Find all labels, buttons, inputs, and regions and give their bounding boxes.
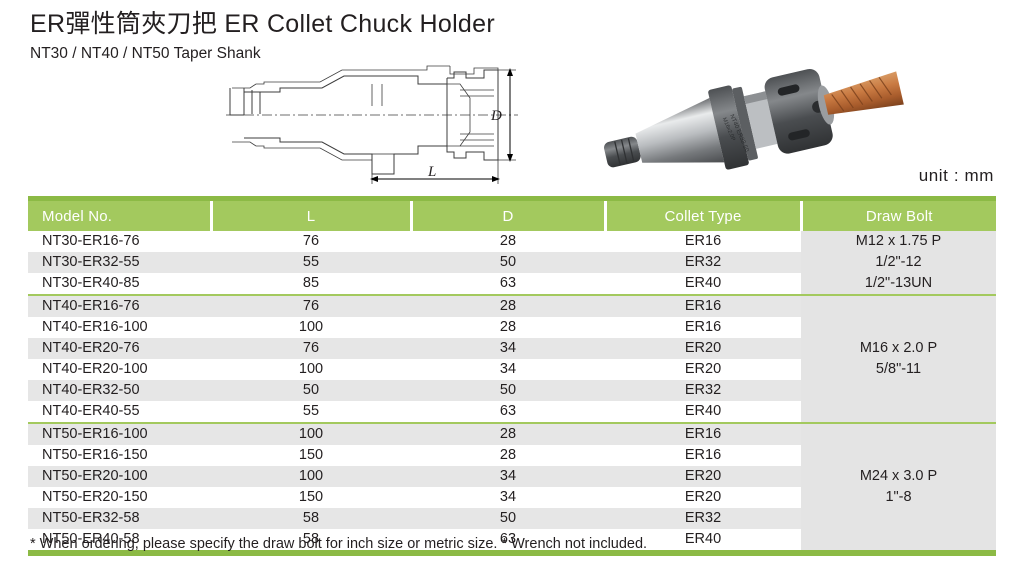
spec-table: Model No. L D Collet Type Draw Bolt NT30…: [28, 201, 996, 550]
cell-d: 28: [411, 423, 605, 445]
cell-collet-type: ER32: [605, 508, 801, 529]
cell-l: 150: [211, 445, 411, 466]
draw-bolt-line: M12 x 1.75 P: [801, 231, 996, 252]
cell-l: 150: [211, 487, 411, 508]
cell-d: 63: [411, 273, 605, 295]
collet-chuck-photo: NT40 ER32-50 M16x2.0P: [588, 56, 908, 191]
cell-d: 63: [411, 401, 605, 423]
cell-d: 28: [411, 317, 605, 338]
cell-collet-type: ER32: [605, 252, 801, 273]
cell-collet-type: ER16: [605, 295, 801, 317]
table-header-row: Model No. L D Collet Type Draw Bolt: [28, 201, 996, 231]
cell-collet-type: ER16: [605, 445, 801, 466]
cell-model: NT40-ER32-50: [28, 380, 211, 401]
cell-l: 100: [211, 359, 411, 380]
cell-l: 76: [211, 231, 411, 252]
column-header-d: D: [411, 201, 605, 231]
cell-model: NT30-ER16-76: [28, 231, 211, 252]
cell-l: 55: [211, 252, 411, 273]
cell-model: NT50-ER16-100: [28, 423, 211, 445]
dimension-label-l: L: [427, 164, 436, 180]
cell-model: NT50-ER16-150: [28, 445, 211, 466]
collet-chuck-line-drawing: D L: [222, 62, 522, 187]
cell-d: 34: [411, 466, 605, 487]
title-block: ER彈性筒夾刀把 ER Collet Chuck Holder NT30 / N…: [30, 10, 495, 63]
cell-d: 34: [411, 487, 605, 508]
cell-collet-type: ER40: [605, 273, 801, 295]
cell-collet-type: ER40: [605, 401, 801, 423]
cell-model: NT40-ER20-100: [28, 359, 211, 380]
cell-collet-type: ER32: [605, 380, 801, 401]
cell-l: 58: [211, 508, 411, 529]
cell-model: NT30-ER40-85: [28, 273, 211, 295]
draw-bolt-line: 5/8"-11: [801, 359, 996, 380]
cell-l: 55: [211, 401, 411, 423]
cell-draw-bolt: M12 x 1.75 P1/2"-121/2"-13UN: [801, 231, 996, 295]
cell-model: NT30-ER32-55: [28, 252, 211, 273]
column-header-model: Model No.: [28, 201, 211, 231]
cell-l: 100: [211, 423, 411, 445]
draw-bolt-line: M16 x 2.0 P: [801, 338, 996, 359]
cell-model: NT40-ER40-55: [28, 401, 211, 423]
cell-l: 100: [211, 317, 411, 338]
draw-bolt-line: 1/2"-13UN: [801, 273, 996, 294]
table-body: NT30-ER16-767628ER16M12 x 1.75 P1/2"-121…: [28, 231, 996, 550]
cell-d: 28: [411, 231, 605, 252]
column-header-l: L: [211, 201, 411, 231]
photo-svg: NT40 ER32-50 M16x2.0P: [588, 56, 908, 191]
cell-model: NT50-ER20-150: [28, 487, 211, 508]
line-drawing-svg: D L: [222, 62, 522, 187]
cell-collet-type: ER16: [605, 423, 801, 445]
column-header-draw-bolt: Draw Bolt: [801, 201, 996, 231]
cell-collet-type: ER16: [605, 231, 801, 252]
cell-d: 28: [411, 445, 605, 466]
cell-collet-type: ER20: [605, 487, 801, 508]
cell-d: 50: [411, 380, 605, 401]
cell-model: NT40-ER20-76: [28, 338, 211, 359]
cell-d: 34: [411, 338, 605, 359]
table-row: NT30-ER16-767628ER16M12 x 1.75 P1/2"-121…: [28, 231, 996, 252]
draw-bolt-line: 1"-8: [801, 487, 996, 508]
cell-d: 34: [411, 359, 605, 380]
table-row: NT40-ER16-767628ER16M16 x 2.0 P5/8"-11: [28, 295, 996, 317]
cell-l: 100: [211, 466, 411, 487]
cell-l: 85: [211, 273, 411, 295]
cell-draw-bolt: M24 x 3.0 P1"-8: [801, 423, 996, 550]
table-header: Model No. L D Collet Type Draw Bolt: [28, 201, 996, 231]
cell-d: 28: [411, 295, 605, 317]
draw-bolt-line: M24 x 3.0 P: [801, 466, 996, 487]
cell-model: NT40-ER16-76: [28, 295, 211, 317]
cell-model: NT50-ER32-58: [28, 508, 211, 529]
cell-collet-type: ER20: [605, 338, 801, 359]
page-subtitle: NT30 / NT40 / NT50 Taper Shank: [30, 45, 495, 63]
product-spec-page: ER彈性筒夾刀把 ER Collet Chuck Holder NT30 / N…: [0, 0, 1024, 582]
cell-d: 50: [411, 252, 605, 273]
cell-l: 76: [211, 338, 411, 359]
cell-model: NT40-ER16-100: [28, 317, 211, 338]
cell-draw-bolt: M16 x 2.0 P5/8"-11: [801, 295, 996, 423]
draw-bolt-line: 1/2"-12: [801, 252, 996, 273]
footnote: * When ordering, please specify the draw…: [30, 536, 647, 552]
spec-table-container: Model No. L D Collet Type Draw Bolt NT30…: [28, 196, 996, 556]
unit-label: unit : mm: [919, 166, 994, 186]
cell-l: 50: [211, 380, 411, 401]
cell-collet-type: ER20: [605, 466, 801, 487]
cell-model: NT50-ER20-100: [28, 466, 211, 487]
table-row: NT50-ER16-10010028ER16M24 x 3.0 P1"-8: [28, 423, 996, 445]
cell-collet-type: ER20: [605, 359, 801, 380]
cell-collet-type: ER16: [605, 317, 801, 338]
cell-l: 76: [211, 295, 411, 317]
cell-d: 50: [411, 508, 605, 529]
page-title: ER彈性筒夾刀把 ER Collet Chuck Holder: [30, 10, 495, 39]
dimension-label-d: D: [490, 108, 502, 124]
column-header-collet-type: Collet Type: [605, 201, 801, 231]
